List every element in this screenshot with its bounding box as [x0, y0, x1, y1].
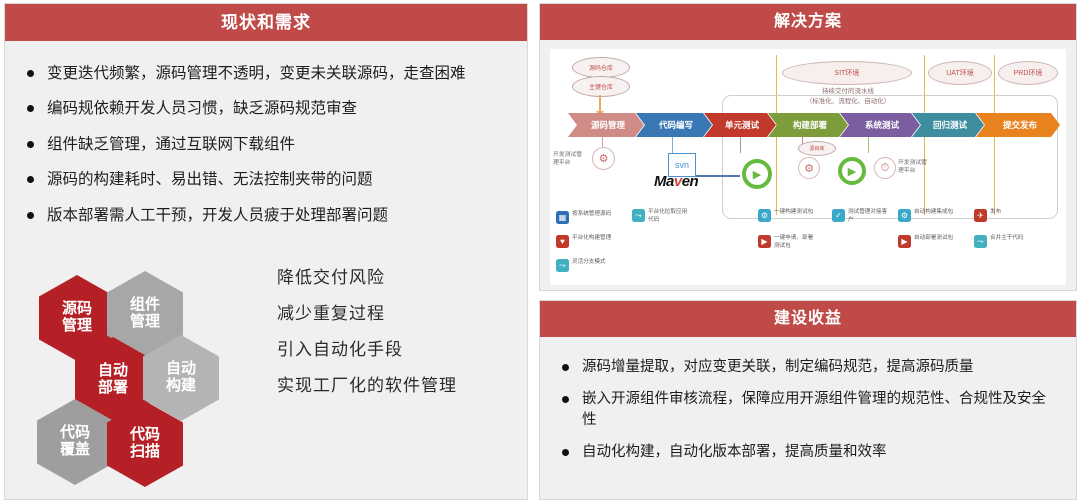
- build-icon: ⚙: [758, 209, 771, 222]
- list-item-label: 组件缺乏管理，通过互联网下载组件: [47, 136, 295, 153]
- integrate-icon: ⚙: [898, 209, 911, 222]
- stage-tick: [672, 137, 673, 153]
- goal-item: 引入自动化手段: [277, 335, 517, 360]
- list-item-label: 编码规依赖开发人员习惯，缺乏源码规范审查: [47, 100, 357, 117]
- legend-label: 一键申请、部署测试包: [774, 235, 816, 251]
- stage-label: 源码管理: [591, 119, 625, 131]
- legend-item: ⤳ 灵活分支模式: [556, 259, 614, 272]
- list-item: 嵌入开源组件审核流程，保障应用开源组件管理的规范性、合规性及安全性: [562, 389, 1054, 431]
- bullet-dot-icon: [562, 449, 569, 456]
- hexagon-label-line1: 源码: [62, 301, 92, 318]
- list-item: 组件缺乏管理，通过互联网下载组件: [27, 134, 509, 156]
- list-item-label: 源码的构建耗时、易出错、无法控制夹带的问题: [47, 171, 373, 188]
- merge-icon: ⤳: [974, 235, 987, 248]
- legend-item: ▦ 按系统管理源码: [556, 211, 614, 224]
- hexagon-label-line1: 组件: [130, 297, 160, 314]
- gear-icon: ⚙: [592, 147, 615, 170]
- bullet-dot-icon: [27, 212, 34, 219]
- benefits-panel-body: 源码增量提取，对应变更关联，制定编码规范，提高源码质量 嵌入开源组件审核流程，保…: [540, 337, 1076, 499]
- stage-label: 系统测试: [865, 119, 899, 131]
- list-item-label: 变更迭代频繁，源码管理不透明，变更未关联源码，走查困难: [47, 65, 466, 82]
- list-item: 源码增量提取，对应变更关联，制定编码规范，提高源码质量: [562, 357, 1054, 378]
- maven-prefix: Ma: [654, 173, 674, 190]
- bullet-dot-icon: [27, 141, 34, 148]
- stage-label: 单元测试: [725, 119, 759, 131]
- legend-label: 自动部署测试包: [914, 235, 956, 243]
- bullet-dot-icon: [27, 70, 34, 77]
- legend-label: 平台化构建管理: [572, 235, 614, 243]
- platform-label-left: 开发测试管 理平台: [553, 151, 591, 168]
- hexagon-label-line2: 构建: [166, 378, 196, 395]
- grid-icon: ▦: [556, 211, 569, 224]
- goal-item: 减少重复过程: [277, 299, 517, 324]
- legend-label: 测试管理对接客户: [848, 209, 890, 225]
- bullet-dot-icon: [27, 105, 34, 112]
- source-repo-node: 源码仓库: [572, 57, 630, 78]
- legend-label: 自动构建集成包: [914, 209, 956, 217]
- stage-tick: [740, 137, 741, 153]
- pipeline-stage-source-management: 源码管理: [568, 113, 644, 137]
- list-item: 源码的构建耗时、易出错、无法控制夹带的问题: [27, 169, 509, 191]
- left-panel-header: 现状和需求: [5, 4, 527, 41]
- legend-label: 平台化拉取应用代码: [648, 209, 690, 225]
- benefits-panel: 建设收益 源码增量提取，对应变更关联，制定编码规范，提高源码质量 嵌入开源组件审…: [539, 300, 1077, 500]
- goal-item: 实现工厂化的软件管理: [277, 371, 517, 396]
- solution-panel-header: 解决方案: [540, 4, 1076, 40]
- legend-label: 按系统管理源码: [572, 211, 614, 219]
- hexagon-label-line2: 覆盖: [60, 442, 90, 459]
- deploy-icon: ▶: [758, 235, 771, 248]
- maven-v: v: [674, 173, 682, 190]
- pipeline-stage-system-test: 系统测试: [840, 113, 920, 137]
- list-item-label: 嵌入开源组件审核流程，保障应用开源组件管理的规范性、合规性及安全性: [582, 391, 1046, 428]
- autodeploy-icon: ▶: [898, 235, 911, 248]
- hexagon-label-line1: 自动: [166, 361, 196, 378]
- hexagon-label-line2: 部署: [98, 380, 128, 397]
- pipeline-stage-build-deploy: 构建部署: [768, 113, 848, 137]
- platform-label-right: 开发测试管 理平台: [898, 159, 938, 176]
- maven-logo-icon: Maven: [654, 173, 698, 190]
- play-button-icon: ▶: [742, 159, 772, 189]
- legend-item: ⚙ 一键构建测试包: [758, 209, 816, 222]
- list-item: 编码规依赖开发人员习惯，缺乏源码规范审查: [27, 98, 509, 120]
- gauge-icon: ⏱: [874, 157, 896, 179]
- goal-list: 降低交付风险 减少重复过程 引入自动化手段 实现工厂化的软件管理: [277, 263, 517, 407]
- requirements-list: 变更迭代频繁，源码管理不透明，变更未关联源码，走查困难 编码规依赖开发人员习惯，…: [5, 41, 527, 227]
- legend-item: ▶ 自动部署测试包: [898, 235, 956, 248]
- hexagon-label-line2: 管理: [62, 318, 92, 335]
- legend-item: ✈ 发布: [974, 209, 1032, 222]
- legend-item: ✓ 测试管理对接客户: [832, 209, 890, 225]
- current-status-panel: 现状和需求 变更迭代频繁，源码管理不透明，变更未关联源码，走查困难 编码规依赖开…: [4, 3, 528, 500]
- goal-item: 降低交付风险: [277, 263, 517, 288]
- pipeline-stage-unit-test: 单元测试: [704, 113, 776, 137]
- heart-icon: ♥: [556, 235, 569, 248]
- branch-icon: ⤳: [556, 259, 569, 272]
- list-item-label: 源码增量提取，对应变更关联，制定编码规范，提高源码质量: [582, 359, 974, 375]
- hexagon-label-line1: 自动: [98, 363, 128, 380]
- stage-tick: [868, 137, 869, 153]
- hexagon-label-line2: 管理: [130, 314, 160, 331]
- bullet-dot-icon: [562, 396, 569, 403]
- pipeline-stage-code-writing: 代码编写: [636, 113, 712, 137]
- list-item: 自动化构建，自动化版本部署，提高质量和效率: [562, 442, 1054, 463]
- stage-label: 构建部署: [793, 119, 827, 131]
- stage-label: 代码编写: [659, 119, 693, 131]
- solution-panel: 解决方案 源码仓库 主键仓库 SIT环境 UAT环境 PRD环境 持续交付的流水…: [539, 3, 1077, 291]
- legend-item: ⤳ 平台化拉取应用代码: [632, 209, 690, 225]
- hexagon-label-line1: 代码: [60, 425, 90, 442]
- legend-label: 合并主干代码: [990, 235, 1032, 243]
- list-item: 变更迭代频繁，源码管理不透明，变更未关联源码，走查困难: [27, 63, 509, 85]
- hexagon-label-line2: 扫描: [130, 444, 160, 461]
- cicd-pipeline-diagram: 源码仓库 主键仓库 SIT环境 UAT环境 PRD环境 持续交付的流水线 （标准…: [550, 49, 1066, 285]
- legend-item: ▶ 一键申请、部署测试包: [758, 235, 816, 251]
- artifact-repo-small-node: 源目库: [798, 141, 836, 156]
- list-item-label: 版本部署需人工干预，开发人员疲于处理部署问题: [47, 207, 388, 224]
- bullet-dot-icon: [27, 176, 34, 183]
- gear-icon: ⚙: [798, 157, 820, 179]
- legend-label: 灵活分支模式: [572, 259, 614, 267]
- env-node-uat: UAT环境: [928, 61, 992, 85]
- legend-item: ♥ 平台化构建管理: [556, 235, 614, 248]
- list-item-label: 自动化构建，自动化版本部署，提高质量和效率: [582, 444, 887, 460]
- artifact-repo-node: 主键仓库: [572, 76, 630, 97]
- legend-item: ⤳ 合并主干代码: [974, 235, 1032, 248]
- test-icon: ✓: [832, 209, 845, 222]
- stage-label: 提交发布: [1003, 119, 1037, 131]
- legend-label: 发布: [990, 209, 1032, 217]
- env-node-sit: SIT环境: [782, 61, 912, 85]
- release-icon: ✈: [974, 209, 987, 222]
- capability-hexagon-diagram: 源码 管理 组件 管理 自动 部署 自动 构建 代码 覆盖 代码 扫描: [25, 251, 255, 486]
- legend-item: ⚙ 自动构建集成包: [898, 209, 956, 222]
- bullet-dot-icon: [562, 364, 569, 371]
- left-panel-body: 变更迭代频繁，源码管理不透明，变更未关联源码，走查困难 编码规依赖开发人员习惯，…: [5, 41, 527, 499]
- pipeline-stage-release: 提交发布: [976, 113, 1060, 137]
- list-item: 版本部署需人工干预，开发人员疲于处理部署问题: [27, 205, 509, 227]
- pipeline-stage-regression-test: 回归测试: [912, 113, 984, 137]
- benefits-panel-header: 建设收益: [540, 301, 1076, 337]
- hexagon-label-line1: 代码: [130, 427, 160, 444]
- legend-label: 一键构建测试包: [774, 209, 816, 217]
- maven-connector-arrow: [696, 175, 740, 177]
- env-node-prd: PRD环境: [998, 61, 1058, 85]
- stage-label: 回归测试: [933, 119, 967, 131]
- benefits-list: 源码增量提取，对应变更关联，制定编码规范，提高源码质量 嵌入开源组件审核流程，保…: [540, 337, 1076, 463]
- branch-icon: ⤳: [632, 209, 645, 222]
- play-button-icon: ▶: [838, 157, 866, 185]
